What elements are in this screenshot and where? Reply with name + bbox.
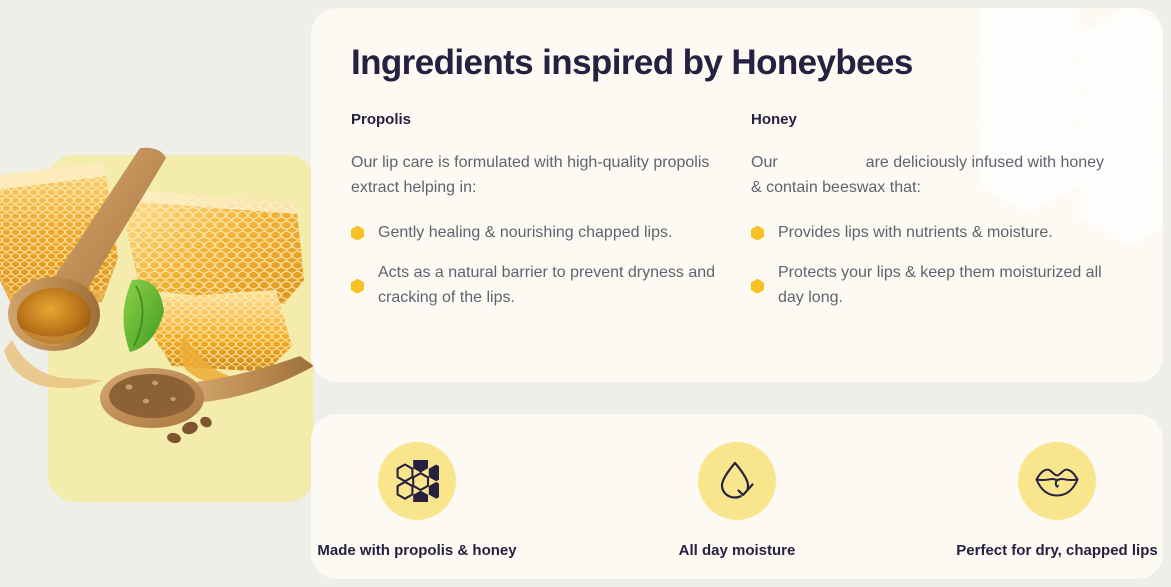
ingredient-intro-text-before: Our — [751, 154, 778, 171]
list-item-label: Acts as a natural barrier to prevent dry… — [378, 261, 716, 311]
feature-all-day-moisture: All day moisture — [631, 442, 843, 559]
ingredient-intro-text-propolis: Our lip care is formulated with high-qua… — [351, 154, 709, 197]
hexagon-bullet-icon — [351, 279, 364, 294]
list-item-label: Gently healing & nourishing chapped lips… — [378, 221, 672, 246]
ingredient-column-honey: Honey Ourare deliciously infused with ho… — [751, 111, 1116, 312]
list-item-label: Protects your lips & keep them moisturiz… — [778, 261, 1116, 311]
ingredients-card-content: Ingredients inspired by Honeybees Propol… — [311, 8, 1163, 311]
ingredient-bullets-propolis: Gently healing & nourishing chapped lips… — [351, 221, 716, 311]
ingredient-column-propolis: Propolis Our lip care is formulated with… — [351, 111, 716, 312]
feature-badge — [1018, 442, 1096, 520]
ingredient-intro-text-after: are deliciously infused with honey & con… — [751, 154, 1104, 197]
hexagon-bullet-icon — [751, 279, 764, 294]
product-image-zone — [0, 0, 330, 587]
feature-label: Perfect for dry, chapped lips — [956, 542, 1157, 559]
product-photo — [0, 140, 314, 450]
list-item-label: Provides lips with nutrients & moisture. — [778, 221, 1053, 246]
feature-highlights-card: Made with propolis & honey All day moist… — [311, 414, 1163, 579]
page-root: Ingredients inspired by Honeybees Propol… — [0, 0, 1171, 587]
ingredient-bullets-honey: Provides lips with nutrients & moisture.… — [751, 221, 1116, 311]
hexagon-bullet-icon — [751, 226, 764, 241]
list-item: Protects your lips & keep them moisturiz… — [751, 261, 1116, 311]
ingredient-title-propolis: Propolis — [351, 111, 716, 128]
ingredients-card: Ingredients inspired by Honeybees Propol… — [311, 8, 1163, 382]
list-item: Provides lips with nutrients & moisture. — [751, 221, 1116, 246]
ingredient-columns: Propolis Our lip care is formulated with… — [351, 111, 1123, 312]
hexagon-bullet-icon — [351, 226, 364, 241]
feature-badge — [378, 442, 456, 520]
feature-list: Made with propolis & honey All day moist… — [311, 414, 1163, 579]
feature-label: Made with propolis & honey — [317, 542, 516, 559]
page-title: Ingredients inspired by Honeybees — [351, 44, 1123, 83]
feature-badge — [698, 442, 776, 520]
feature-made-with-propolis-honey: Made with propolis & honey — [311, 442, 523, 559]
ingredient-title-honey: Honey — [751, 111, 1116, 128]
lips-icon — [1033, 464, 1081, 498]
ingredient-intro-propolis: Our lip care is formulated with high-qua… — [351, 150, 716, 201]
feature-label: All day moisture — [679, 542, 796, 559]
list-item: Acts as a natural barrier to prevent dry… — [351, 261, 716, 311]
honeycomb-icon — [395, 460, 439, 502]
water-drop-check-icon — [717, 459, 757, 503]
ingredient-intro-honey: Ourare deliciously infused with honey & … — [751, 150, 1116, 201]
feature-perfect-for-dry-chapped-lips: Perfect for dry, chapped lips — [951, 442, 1163, 559]
list-item: Gently healing & nourishing chapped lips… — [351, 221, 716, 246]
